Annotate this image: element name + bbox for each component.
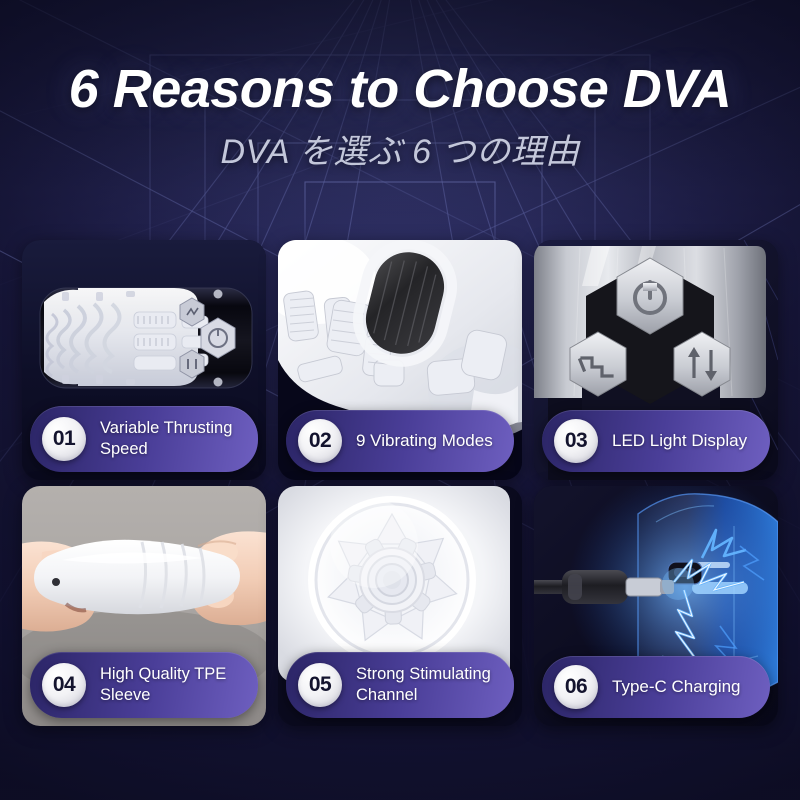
feature-number-badge-05: 05: [298, 663, 342, 707]
feature-label-06: Type-C Charging: [612, 676, 741, 698]
feature-card-06[interactable]: 06 Type-C Charging: [534, 486, 778, 726]
feature-pill-02[interactable]: 02 9 Vibrating Modes: [286, 410, 514, 472]
feature-pill-04[interactable]: 04 High Quality TPE Sleeve: [30, 652, 258, 718]
feature-card-02[interactable]: 02 9 Vibrating Modes: [278, 240, 522, 480]
feature-card-04[interactable]: 04 High Quality TPE Sleeve: [22, 486, 266, 726]
feature-label-01: Variable Thrusting Speed: [100, 418, 232, 461]
feature-card-01[interactable]: 01 Variable Thrusting Speed: [22, 240, 266, 480]
feature-label-line-1: Variable Thrusting: [100, 419, 232, 437]
feature-card-03[interactable]: 03 LED Light Display: [534, 240, 778, 480]
feature-label-03: LED Light Display: [612, 430, 747, 452]
feature-label-line-2: Channel: [356, 686, 417, 704]
feature-label-line-2: Speed: [100, 440, 148, 458]
feature-number-badge-01: 01: [42, 417, 86, 461]
feature-pill-05[interactable]: 05 Strong Stimulating Channel: [286, 652, 514, 718]
feature-pill-01[interactable]: 01 Variable Thrusting Speed: [30, 406, 258, 472]
feature-number-badge-06: 06: [554, 665, 598, 709]
feature-pill-03[interactable]: 03 LED Light Display: [542, 410, 770, 472]
feature-label-05: Strong Stimulating Channel: [356, 664, 491, 707]
feature-label-line-1: High Quality TPE: [100, 665, 226, 683]
poster-root: 6 Reasons to Choose DVA DVA を選ぶ 6 つの理由: [0, 0, 800, 800]
poster-heading-block: 6 Reasons to Choose DVA DVA を選ぶ 6 つの理由: [0, 0, 800, 171]
feature-label-line-2: Sleeve: [100, 686, 150, 704]
feature-pill-06[interactable]: 06 Type-C Charging: [542, 656, 770, 718]
page-title: 6 Reasons to Choose DVA: [0, 0, 800, 118]
feature-label-02: 9 Vibrating Modes: [356, 430, 493, 452]
feature-grid: 01 Variable Thrusting Speed: [22, 240, 778, 726]
feature-card-05[interactable]: 05 Strong Stimulating Channel: [278, 486, 522, 726]
feature-number-badge-02: 02: [298, 419, 342, 463]
feature-label-04: High Quality TPE Sleeve: [100, 664, 226, 707]
feature-number-badge-03: 03: [554, 419, 598, 463]
feature-number-badge-04: 04: [42, 663, 86, 707]
feature-label-line-1: Strong Stimulating: [356, 665, 491, 683]
page-subtitle: DVA を選ぶ 6 つの理由: [0, 118, 800, 171]
